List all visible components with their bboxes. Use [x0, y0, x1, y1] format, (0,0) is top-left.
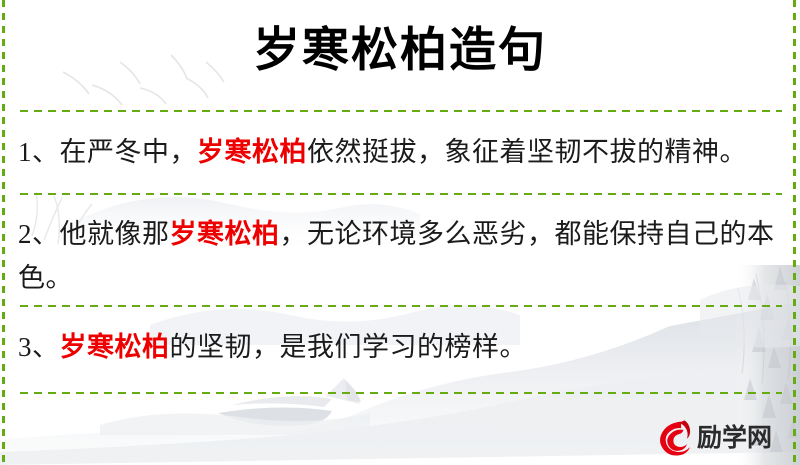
- sentence-2-part-a: 他就像那: [60, 219, 170, 249]
- sentence-1-part-a: 在严冬中，: [60, 137, 198, 167]
- sentence-3-part-b: 的坚韧，是我们学习的榜样。: [170, 332, 528, 362]
- slide-canvas: 岁寒松柏造句 1、在严冬中，岁寒松柏依然挺拔，象征着坚韧不拔的精神。 2、他就像…: [0, 0, 800, 465]
- divider-below-sentence-2: [20, 305, 782, 307]
- sentence-1-part-b: 依然挺拔，象征着坚韧不拔的精神。: [307, 137, 747, 167]
- flame-swirl-icon: [655, 418, 693, 456]
- sentence-1-index: 1、: [18, 137, 60, 167]
- example-sentence-1: 1、在严冬中，岁寒松柏依然挺拔，象征着坚韧不拔的精神。: [18, 130, 778, 174]
- site-logo-watermark: 励学网: [655, 417, 772, 457]
- page-title: 岁寒松柏造句: [0, 18, 800, 84]
- divider-below-title: [20, 110, 782, 112]
- divider-below-sentence-1: [20, 193, 782, 195]
- sentence-2-index: 2、: [18, 219, 60, 249]
- sentence-3-keyword: 岁寒松柏: [60, 332, 170, 362]
- example-sentence-2: 2、他就像那岁寒松柏，无论环境多么恶劣，都能保持自己的本色。: [18, 212, 778, 300]
- sentence-3-index: 3、: [18, 332, 60, 362]
- divider-below-sentence-3: [20, 392, 782, 394]
- sentence-2-keyword: 岁寒松柏: [170, 219, 280, 249]
- site-logo-text: 励学网: [697, 425, 772, 450]
- example-sentence-3: 3、岁寒松柏的坚韧，是我们学习的榜样。: [18, 325, 778, 369]
- sentence-1-keyword: 岁寒松柏: [197, 137, 307, 167]
